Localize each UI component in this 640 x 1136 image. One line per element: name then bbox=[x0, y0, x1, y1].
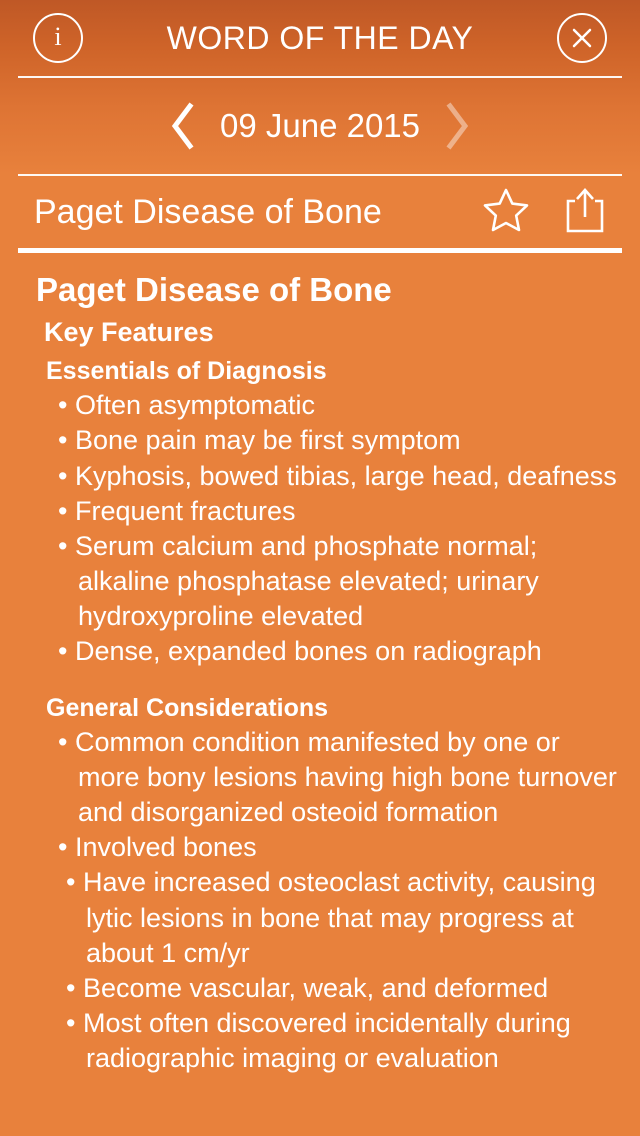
date-navigation: 09 June 2015 bbox=[0, 78, 640, 174]
word-of-the-day-screen: i WORD OF THE DAY 09 June 2015 bbox=[0, 0, 640, 1136]
header-divider bbox=[18, 76, 622, 78]
share-button[interactable] bbox=[564, 186, 606, 239]
share-icon bbox=[564, 186, 606, 234]
list-item: • Most often discovered incidentally dur… bbox=[66, 1006, 626, 1076]
next-day-button[interactable] bbox=[444, 102, 470, 150]
article-section-heading: Key Features bbox=[44, 316, 626, 348]
app-header: i WORD OF THE DAY 09 June 2015 bbox=[0, 0, 640, 174]
info-icon: i bbox=[54, 24, 61, 50]
list-item: • Often asymptomatic bbox=[58, 388, 626, 423]
list-item: • Dense, expanded bones on radiograph bbox=[58, 634, 626, 669]
entry-title-bar: Paget Disease of Bone bbox=[0, 176, 640, 248]
content-block-general: General Considerations • Common conditio… bbox=[14, 693, 626, 1076]
list-item: • Serum calcium and phosphate normal; al… bbox=[58, 529, 626, 634]
page-title: WORD OF THE DAY bbox=[167, 20, 474, 57]
chevron-right-icon bbox=[444, 102, 470, 150]
close-button[interactable] bbox=[557, 13, 607, 63]
entry-actions bbox=[482, 186, 620, 239]
chevron-left-icon bbox=[170, 102, 196, 150]
header-topbar: i WORD OF THE DAY bbox=[0, 0, 640, 76]
entry-title: Paget Disease of Bone bbox=[34, 193, 382, 232]
info-button[interactable]: i bbox=[33, 13, 83, 63]
subheading-general-considerations: General Considerations bbox=[46, 693, 626, 723]
datebar-divider bbox=[18, 174, 622, 176]
favorite-button[interactable] bbox=[482, 187, 530, 238]
subheading-essentials-of-diagnosis: Essentials of Diagnosis bbox=[46, 356, 626, 386]
list-item: • Kyphosis, bowed tibias, large head, de… bbox=[58, 459, 626, 494]
article-heading: Paget Disease of Bone bbox=[36, 271, 626, 310]
previous-day-button[interactable] bbox=[170, 102, 196, 150]
list-item: • Become vascular, weak, and deformed bbox=[66, 971, 626, 1006]
star-outline-icon bbox=[482, 187, 530, 233]
current-date-label: 09 June 2015 bbox=[220, 107, 420, 145]
article-content[interactable]: Paget Disease of Bone Key Features Essen… bbox=[0, 253, 640, 1094]
list-item: • Bone pain may be first symptom bbox=[58, 423, 626, 458]
list-item: • Have increased osteoclast activity, ca… bbox=[66, 865, 626, 970]
list-item: • Common condition manifested by one or … bbox=[58, 725, 626, 830]
content-block-essentials: Essentials of Diagnosis • Often asymptom… bbox=[14, 356, 626, 669]
close-icon bbox=[569, 25, 595, 51]
list-item: • Involved bones bbox=[58, 830, 626, 865]
list-item: • Frequent fractures bbox=[58, 494, 626, 529]
